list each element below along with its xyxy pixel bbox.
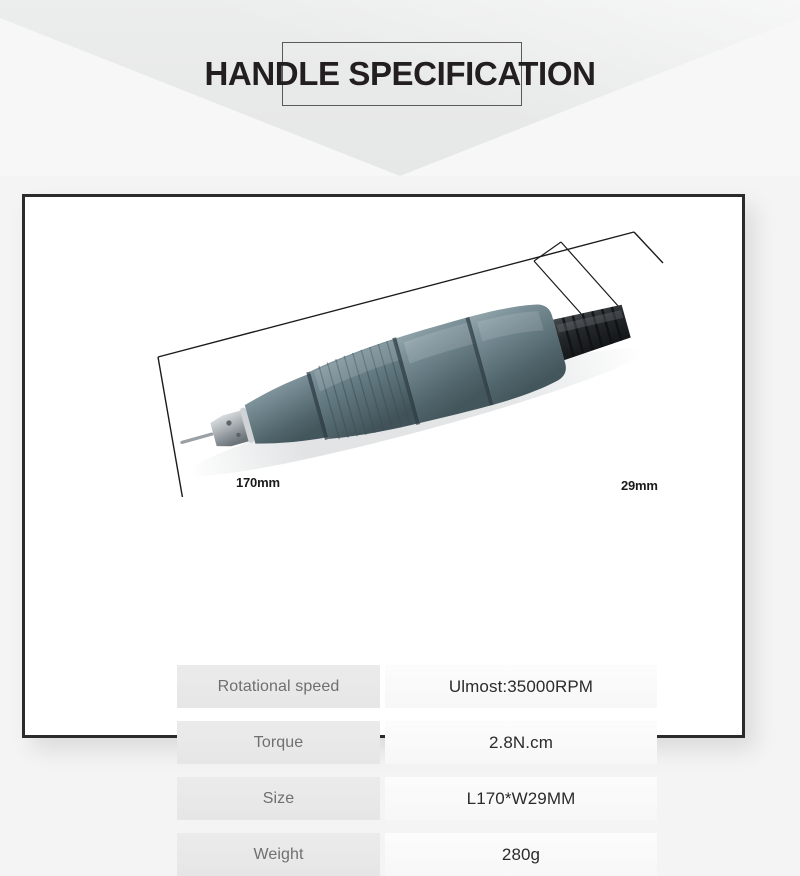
specification-table: Rotational speed Ulmost:35000RPM Torque … — [177, 665, 657, 876]
diameter-dimension-label: 29mm — [621, 478, 658, 493]
spec-label-weight: Weight — [177, 833, 380, 876]
length-dimension-label: 170mm — [236, 475, 280, 490]
table-row: Weight 280g — [177, 833, 657, 876]
product-card: 170mm 29mm Rotational speed Ulmost:35000… — [22, 194, 745, 738]
spec-value-torque: 2.8N.cm — [385, 721, 657, 764]
spec-label-rotational-speed: Rotational speed — [177, 665, 380, 708]
spec-label-size: Size — [177, 777, 380, 820]
table-row: Torque 2.8N.cm — [177, 721, 657, 764]
spec-value-rotational-speed: Ulmost:35000RPM — [385, 665, 657, 708]
page-title: HANDLE SPECIFICATION — [0, 48, 800, 100]
spec-label-torque: Torque — [177, 721, 380, 764]
table-row: Rotational speed Ulmost:35000RPM — [177, 665, 657, 708]
spec-value-size: L170*W29MM — [385, 777, 657, 820]
spec-value-weight: 280g — [385, 833, 657, 876]
table-row: Size L170*W29MM — [177, 777, 657, 820]
handpiece-illustration — [25, 197, 742, 497]
drill-bit — [180, 432, 214, 444]
header-banner: HANDLE SPECIFICATION — [0, 0, 800, 176]
product-photo-area: 170mm 29mm — [25, 197, 742, 455]
